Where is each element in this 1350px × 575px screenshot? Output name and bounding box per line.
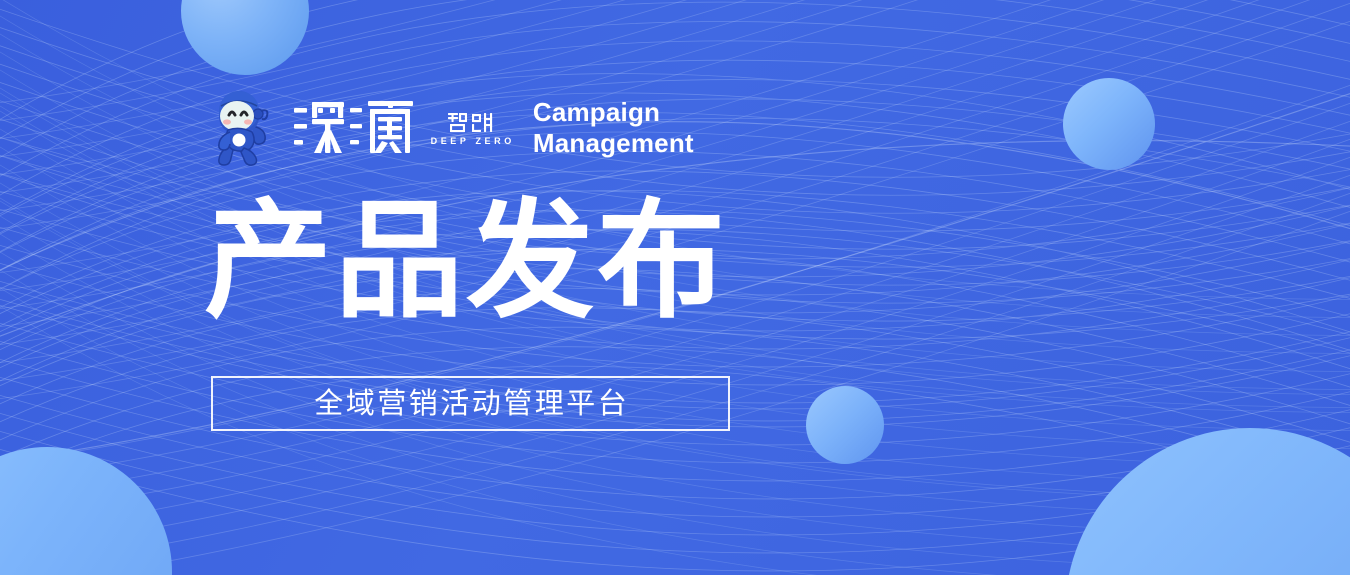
robot-mascot-icon xyxy=(208,84,282,172)
brand-cn-wordmark-icon xyxy=(292,99,418,157)
subtitle-label: 全域营销活动管理平台 xyxy=(312,387,630,421)
brand-sub-group: DEEP ZERO xyxy=(427,110,515,147)
product-launch-banner: DEEP ZERO Campaign Management 产品发布 全域营销活… xyxy=(0,0,1350,575)
wordmark-group: DEEP ZERO xyxy=(292,99,515,157)
decor-circle-mid xyxy=(806,386,884,464)
brand-lockup: DEEP ZERO Campaign Management xyxy=(208,84,694,172)
subtitle-box: 全域营销活动管理平台 xyxy=(211,376,730,431)
page-title: 产品发布 xyxy=(204,186,728,338)
brand-sub-cn-icon xyxy=(447,112,495,134)
brand-sub-en-label: DEEP ZERO xyxy=(427,136,515,147)
product-name-label: Campaign Management xyxy=(533,97,694,159)
decor-circle-top-right xyxy=(1063,78,1155,170)
